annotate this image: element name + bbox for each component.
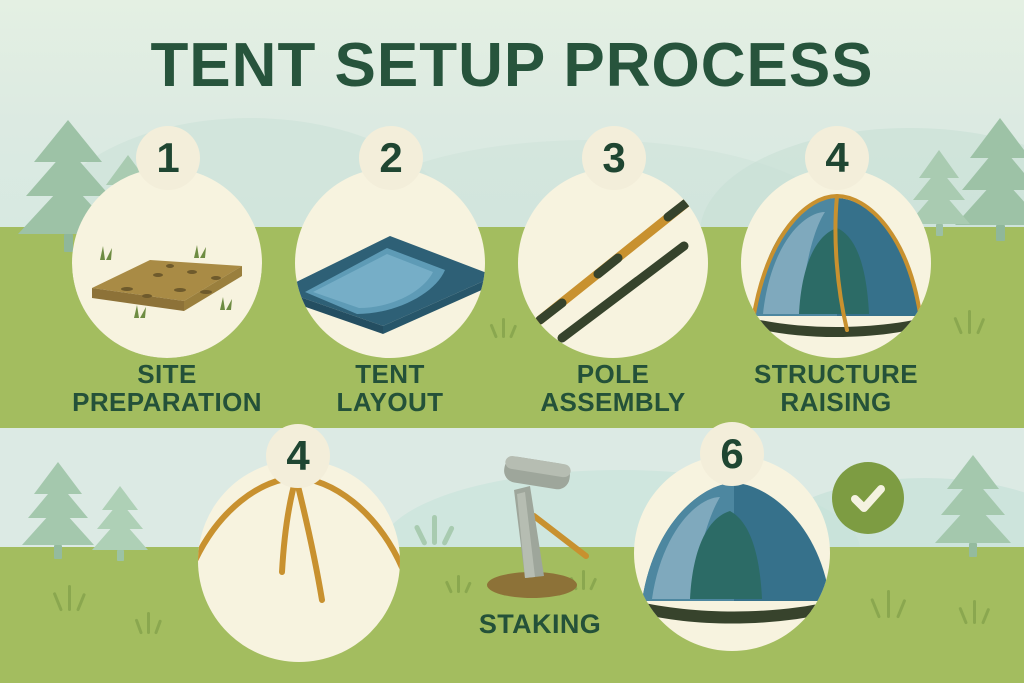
step-4-number-badge: 4 <box>805 126 869 190</box>
step-1-caption-line1: SITE <box>37 360 297 388</box>
step-2-caption-line1: TENT <box>260 360 520 388</box>
step-5-number-badge: 4 <box>266 424 330 488</box>
infographic-canvas: TENT SETUP PROCESS <box>0 0 1024 683</box>
pine-tree-icon <box>22 462 94 559</box>
step-3-illustration <box>518 168 708 358</box>
pine-tree-icon <box>92 486 148 561</box>
step-6-number-badge: 6 <box>700 422 764 486</box>
step-1-caption-line2: PREPARATION <box>37 388 297 416</box>
step-4-caption-line1: STRUCTURE <box>706 360 966 388</box>
step-1-illustration <box>72 168 262 358</box>
step-1-caption: SITE PREPARATION <box>37 360 297 416</box>
step-1-number-badge: 1 <box>136 126 200 190</box>
step-3-number-badge: 3 <box>582 126 646 190</box>
page-title: TENT SETUP PROCESS <box>0 30 1024 101</box>
step-2-caption-line2: LAYOUT <box>260 388 520 416</box>
mallet-stake-icon <box>470 450 610 610</box>
step-2-number-badge: 2 <box>359 126 423 190</box>
step-3-caption-line1: POLE <box>483 360 743 388</box>
check-mark-icon <box>832 462 904 534</box>
step-4-caption-line2: RAISING <box>706 388 966 416</box>
step-2-illustration <box>295 168 485 358</box>
step-5-illustration <box>198 460 400 662</box>
step-4-illustration <box>741 168 931 358</box>
step-staking-caption-line1: STAKING <box>390 610 690 639</box>
step-4-caption: STRUCTURE RAISING <box>706 360 966 416</box>
step-3-caption-line2: ASSEMBLY <box>483 388 743 416</box>
step-2-caption: TENT LAYOUT <box>260 360 520 416</box>
step-staking-caption: STAKING <box>390 610 690 639</box>
pine-tree-icon <box>935 455 1011 557</box>
step-3-caption: POLE ASSEMBLY <box>483 360 743 416</box>
